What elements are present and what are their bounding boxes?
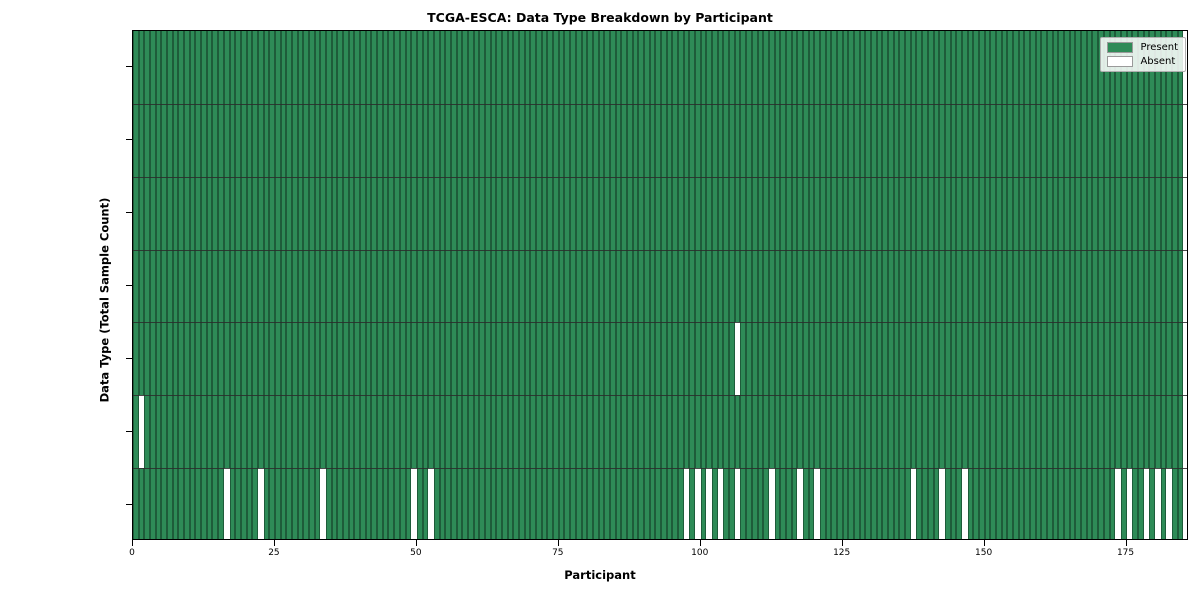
legend-label: Present <box>1140 42 1178 53</box>
x-tick-mark <box>416 540 417 546</box>
x-tick-label: 175 <box>1117 548 1134 558</box>
chart-figure: TCGA-ESCA: Data Type Breakdown by Partic… <box>0 0 1200 600</box>
x-tick-mark <box>1126 540 1127 546</box>
x-tick-mark <box>274 540 275 546</box>
legend-item[interactable]: Absent <box>1107 56 1178 67</box>
x-tick-label: 150 <box>975 548 992 558</box>
x-tick-label: 100 <box>691 548 708 558</box>
chart-legend: PresentAbsent <box>1100 37 1186 72</box>
row-separator <box>133 177 1187 178</box>
row-separator <box>133 104 1187 105</box>
chart-title: TCGA-ESCA: Data Type Breakdown by Partic… <box>0 10 1200 25</box>
y-axis-label: Data Type (Total Sample Count) <box>97 198 111 403</box>
legend-label: Absent <box>1140 56 1175 67</box>
x-tick-mark <box>700 540 701 546</box>
heatmap-cell <box>1183 250 1188 323</box>
x-tick-label: 25 <box>268 548 279 558</box>
heatmap-cell <box>1183 395 1188 468</box>
heatmap-cells <box>133 31 1187 539</box>
heatmap-cell <box>1183 468 1188 540</box>
x-tick-label: 50 <box>410 548 421 558</box>
x-tick-mark <box>842 540 843 546</box>
x-axis-label: Participant <box>0 568 1200 582</box>
row-separator <box>133 468 1187 469</box>
row-separator <box>133 395 1187 396</box>
heatmap-plot-area <box>132 30 1188 540</box>
row-separator <box>133 322 1187 323</box>
x-tick-label: 125 <box>833 548 850 558</box>
x-tick-mark <box>558 540 559 546</box>
x-tick-mark <box>132 540 133 546</box>
legend-swatch <box>1107 56 1133 67</box>
legend-item[interactable]: Present <box>1107 42 1178 53</box>
heatmap-cell <box>1183 104 1188 177</box>
heatmap-cell <box>1183 322 1188 395</box>
heatmap-cell <box>1183 177 1188 250</box>
x-tick-mark <box>984 540 985 546</box>
x-tick-label: 75 <box>552 548 563 558</box>
legend-swatch <box>1107 42 1133 53</box>
x-tick-label: 0 <box>129 548 135 558</box>
row-separator <box>133 250 1187 251</box>
